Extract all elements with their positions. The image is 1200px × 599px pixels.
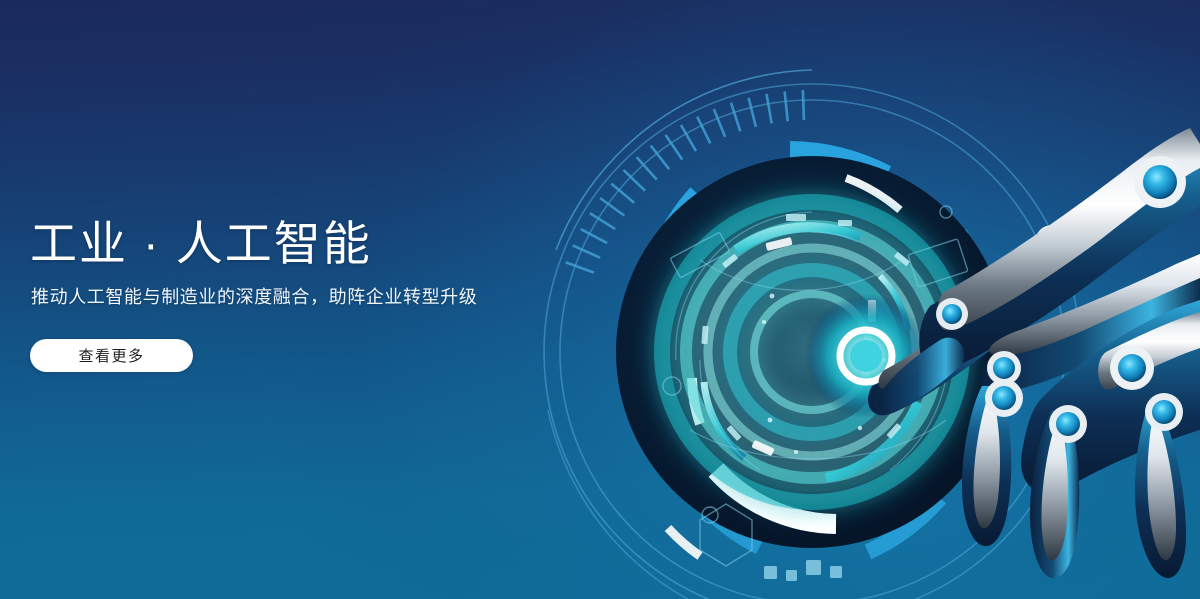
hero-banner: 工业 · 人工智能 推动人工智能与制造业的深度融合，助阵企业转型升级 查看更多 xyxy=(0,0,1200,599)
hud-blue-arcs xyxy=(648,152,978,552)
hud-inner-ticks xyxy=(701,214,932,441)
robot-finger-middle xyxy=(981,254,1200,392)
view-more-button[interactable]: 查看更多 xyxy=(30,339,193,372)
indicator-dot-column xyxy=(619,282,643,398)
hero-subtitle: 推动人工智能与制造业的深度融合，助阵企业转型升级 xyxy=(31,285,570,310)
hud-center-core xyxy=(804,294,928,418)
hud-data-lines xyxy=(676,212,949,470)
hud-core-glow xyxy=(662,202,962,502)
robot-finger-upper xyxy=(919,128,1200,372)
hero-copy: 工业 · 人工智能 推动人工智能与制造业的深度融合，助阵企业转型升级 查看更多 xyxy=(30,216,570,372)
hud-cyan-arcs xyxy=(704,227,918,478)
robot-finger-lower-1 xyxy=(962,379,1023,546)
robot-finger-lower-3 xyxy=(1135,393,1186,578)
robot-palm xyxy=(1021,300,1200,493)
radial-tick-marks xyxy=(566,90,804,272)
robot-finger-lower-2 xyxy=(1030,405,1087,578)
hud-bracket-details xyxy=(663,206,968,566)
robot-finger-index xyxy=(868,222,1104,415)
robot-thumb xyxy=(878,338,964,413)
highlight-arc xyxy=(668,178,900,556)
hud-outer-guides xyxy=(544,70,1080,599)
page-title: 工业 · 人工智能 xyxy=(30,216,570,271)
hud-ring-segments xyxy=(647,232,986,532)
hud-dark-disc xyxy=(616,156,1008,548)
